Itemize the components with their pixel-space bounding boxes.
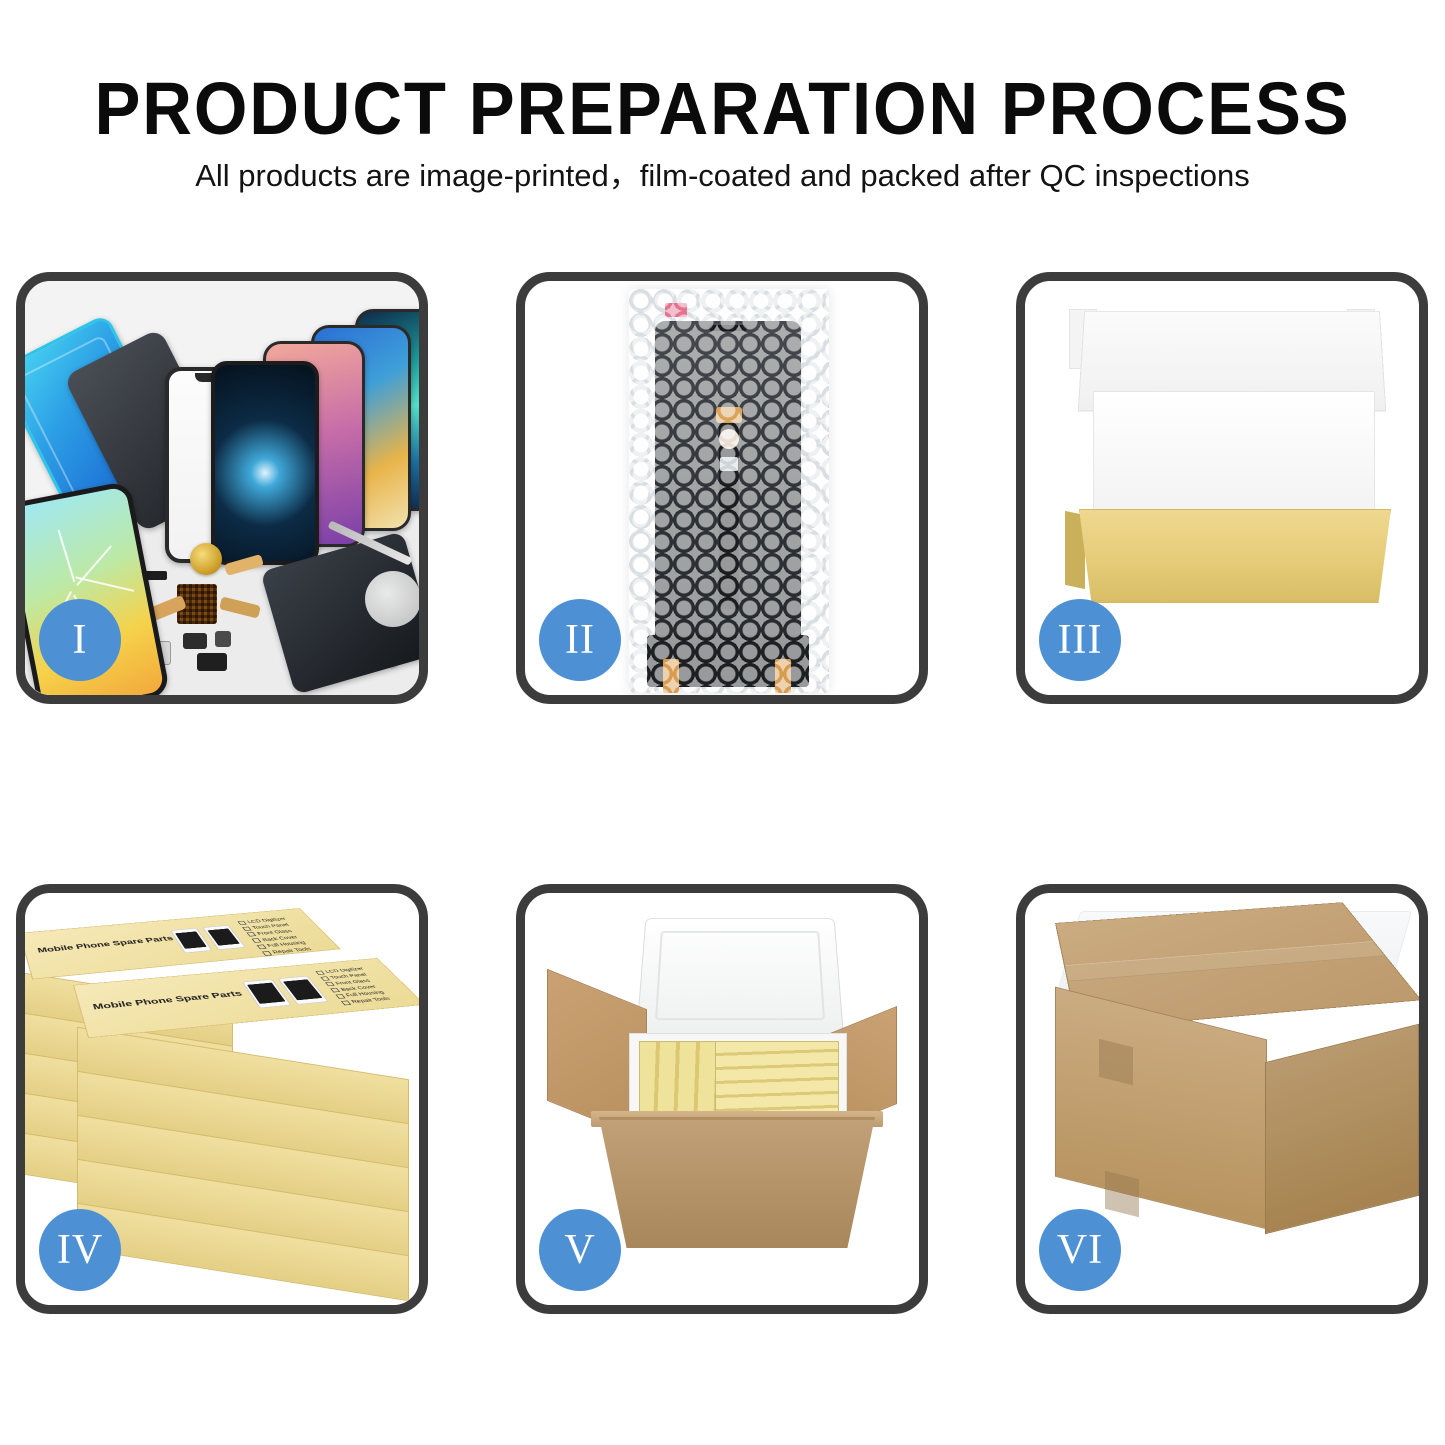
styrofoam-lid	[636, 918, 844, 1035]
carton-seam-tab-top	[1099, 1039, 1133, 1085]
step-badge-2: II	[539, 599, 621, 681]
kraft-box-front	[1079, 509, 1391, 603]
process-step-panel-1: I	[16, 272, 428, 704]
step-badge-1: I	[39, 599, 121, 681]
page-header: PRODUCT PREPARATION PROCESS All products…	[0, 0, 1445, 230]
connector-part	[215, 631, 231, 647]
step-badge-4: IV	[39, 1209, 121, 1291]
process-step-panel-3: III	[1016, 272, 1428, 704]
gold-contact-right	[775, 659, 791, 693]
cleaning-brush-tool	[365, 571, 419, 627]
box-brand-label-front: Mobile Phone Spare Parts	[92, 989, 244, 1011]
white-foam-sheet	[1093, 391, 1375, 523]
step-badge-3: III	[1039, 599, 1121, 681]
gold-contact-left	[663, 659, 679, 693]
pink-qc-sticker	[665, 303, 687, 317]
carton-front-face	[599, 1117, 875, 1248]
lcd-notch	[709, 325, 747, 331]
speaker-part	[190, 543, 222, 575]
driver-ic	[720, 457, 738, 471]
carton-right-face	[1265, 1024, 1419, 1234]
box-checklist-back: LCD Digitizer Touch Panel Front Glass Ba…	[237, 917, 317, 958]
step-badge-5: V	[539, 1209, 621, 1291]
page-subtitle: All products are image-printed，film-coat…	[0, 157, 1445, 194]
flex-connector	[716, 407, 742, 423]
process-step-panel-6: VI	[1016, 884, 1428, 1314]
page-title: PRODUCT PREPARATION PROCESS	[51, 72, 1395, 146]
carton-seam-tab-bottom	[1105, 1171, 1139, 1217]
camera-module-part	[183, 633, 207, 649]
process-step-panel-4: Mobile Phone Spare Parts LCD Digitizer T…	[16, 884, 428, 1314]
packed-yellow-boxes-right	[715, 1041, 839, 1117]
vibrator-part	[197, 653, 227, 671]
process-step-panel-2: II	[516, 272, 928, 704]
bubble-wrap-bag	[629, 289, 829, 693]
box-brand-label-back: Mobile Phone Spare Parts	[37, 935, 175, 955]
camera-hole	[719, 429, 739, 449]
process-step-panel-5: V	[516, 884, 928, 1314]
step-badge-6: VI	[1039, 1209, 1121, 1291]
packing-tape-strip	[1065, 941, 1385, 981]
cracked-screen-phone	[211, 361, 319, 565]
carton-left-face	[1055, 987, 1267, 1230]
